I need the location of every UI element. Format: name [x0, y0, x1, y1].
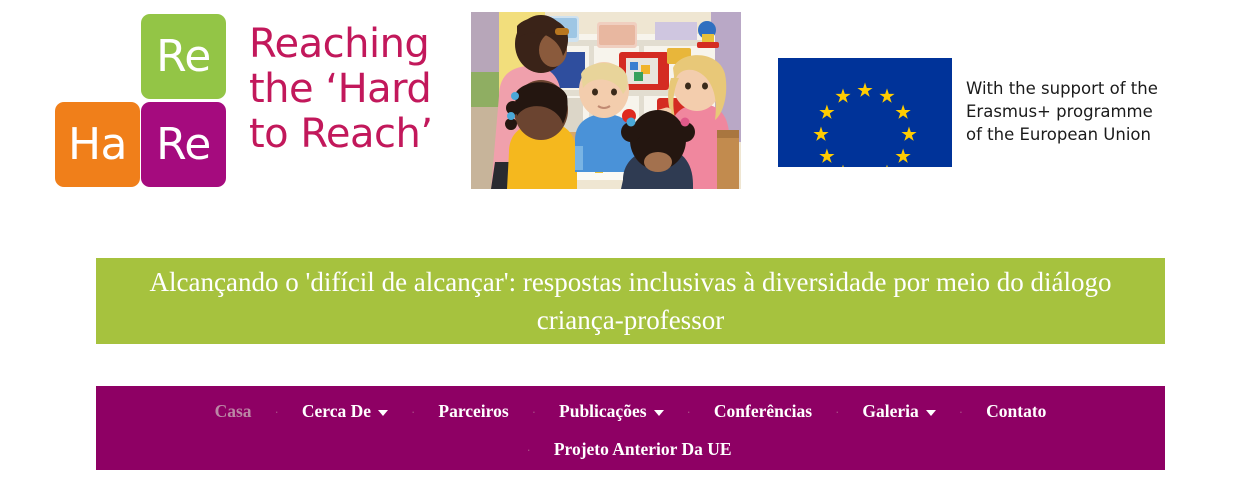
logo-wordmark-line-3: to Reach’ — [249, 112, 459, 157]
project-title-banner: Alcançando o 'difícil de alcançar': resp… — [96, 258, 1165, 344]
chevron-down-icon — [926, 410, 936, 416]
nav-row-primary: Casa · Cerca De · Parceiros · Publicaçõe… — [96, 394, 1165, 428]
nav-item-publicacoes-label: Publicações — [559, 401, 647, 422]
eu-support-line-3: of the European Union — [966, 123, 1226, 146]
eu-support-text: With the support of the Erasmus+ program… — [966, 77, 1226, 146]
nav-item-galeria-label: Galeria — [862, 401, 918, 422]
nav-separator: · — [949, 404, 973, 419]
eu-support-line-1: With the support of the — [966, 77, 1226, 100]
nav-item-casa[interactable]: Casa — [202, 401, 265, 422]
logo-tile-re-top: Re — [141, 14, 226, 99]
nav-item-parceiros[interactable]: Parceiros — [425, 401, 521, 422]
chevron-down-icon — [654, 410, 664, 416]
nav-separator: · — [516, 442, 540, 457]
chevron-down-icon — [378, 410, 388, 416]
eu-flag-icon — [778, 58, 952, 167]
site-header: Re Ha Re Reaching the ‘Hard to Reach’ — [0, 0, 1239, 240]
logo-tile-re-bottom: Re — [141, 102, 226, 187]
nav-item-contato-label: Contato — [986, 401, 1046, 422]
nav-item-casa-label: Casa — [215, 401, 252, 422]
page-title: Alcançando o 'difícil de alcançar': resp… — [126, 263, 1136, 339]
logo-wordmark: Reaching the ‘Hard to Reach’ — [249, 22, 459, 157]
nav-separator: · — [522, 404, 546, 419]
rehare-logo[interactable]: Re Ha Re — [55, 14, 230, 186]
nav-item-cerca-de[interactable]: Cerca De — [289, 401, 401, 422]
logo-wordmark-line-1: Reaching — [249, 22, 459, 67]
logo-wordmark-line-2: the ‘Hard — [249, 67, 459, 112]
nav-separator: · — [265, 404, 289, 419]
classroom-photo — [471, 12, 741, 189]
nav-item-cerca-de-label: Cerca De — [302, 401, 371, 422]
page-root: Re Ha Re Reaching the ‘Hard to Reach’ — [0, 0, 1239, 504]
nav-item-galeria[interactable]: Galeria — [849, 401, 948, 422]
nav-item-parceiros-label: Parceiros — [438, 401, 508, 422]
logo-tile-ha: Ha — [55, 102, 140, 187]
nav-item-projeto-anterior-da-ue-label: Projeto Anterior Da UE — [554, 439, 732, 460]
nav-item-conferencias[interactable]: Conferências — [701, 401, 825, 422]
nav-row-secondary: · Projeto Anterior Da UE — [96, 432, 1165, 466]
nav-item-publicacoes[interactable]: Publicações — [546, 401, 677, 422]
nav-separator: · — [677, 404, 701, 419]
eu-support-line-2: Erasmus+ programme — [966, 100, 1226, 123]
nav-item-conferencias-label: Conferências — [714, 401, 812, 422]
main-navigation[interactable]: Casa · Cerca De · Parceiros · Publicaçõe… — [96, 386, 1165, 470]
nav-separator: · — [401, 404, 425, 419]
nav-item-projeto-anterior-da-ue[interactable]: Projeto Anterior Da UE — [541, 439, 745, 460]
nav-item-contato[interactable]: Contato — [973, 401, 1059, 422]
nav-separator: · — [825, 404, 849, 419]
